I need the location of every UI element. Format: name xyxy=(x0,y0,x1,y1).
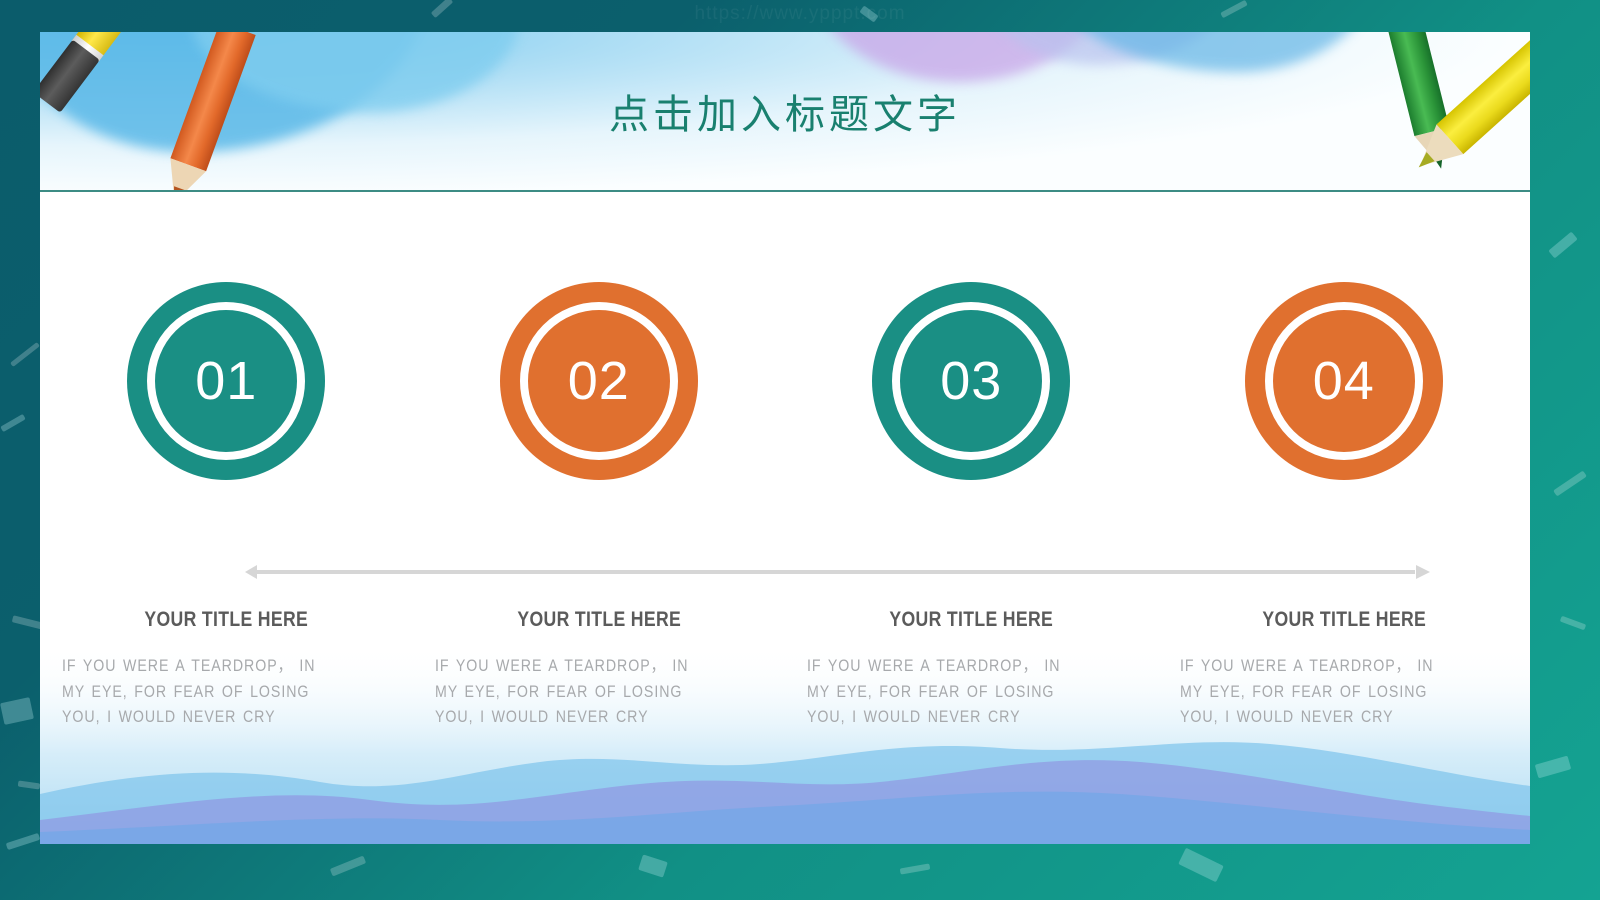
text-row: YOUR TITLE HERE IF YOU WERE A TEARDROP， … xyxy=(40,608,1530,731)
text-cell-02: YOUR TITLE HERE IF YOU WERE A TEARDROP， … xyxy=(413,608,786,731)
item-body: IF YOU WERE A TEARDROP， IN MY EYE, FOR F… xyxy=(1180,654,1463,731)
chalk-mark xyxy=(0,414,26,432)
header-divider xyxy=(40,190,1530,192)
chalk-mark xyxy=(1560,616,1586,631)
chalk-mark xyxy=(1535,756,1572,779)
site-watermark: https://www.ypppt.com xyxy=(0,3,1600,25)
pin-marker-04[interactable]: 04 xyxy=(1245,282,1443,526)
pin-number: 04 xyxy=(1245,282,1443,480)
item-body: IF YOU WERE A TEARDROP， IN MY EYE, FOR F… xyxy=(62,654,345,731)
pin-marker-03[interactable]: 03 xyxy=(872,282,1070,526)
text-cell-03: YOUR TITLE HERE IF YOU WERE A TEARDROP， … xyxy=(785,608,1158,731)
slide-card: 点击加入标题文字 xyxy=(40,32,1530,844)
arrow-right-cap-icon xyxy=(1416,565,1430,579)
text-cell-04: YOUR TITLE HERE IF YOU WERE A TEARDROP， … xyxy=(1158,608,1531,731)
item-title: YOUR TITLE HERE xyxy=(461,608,737,632)
pin-marker-02[interactable]: 02 xyxy=(500,282,698,526)
item-title: YOUR TITLE HERE xyxy=(833,608,1109,632)
timeline-arrow xyxy=(245,565,1430,579)
chalk-mark xyxy=(1178,848,1224,883)
slide-body: 01 02 03 xyxy=(40,190,1530,844)
item-title: YOUR TITLE HERE xyxy=(1206,608,1482,632)
chalk-mark xyxy=(638,854,668,877)
chalk-mark xyxy=(10,342,40,367)
item-body: IF YOU WERE A TEARDROP， IN MY EYE, FOR F… xyxy=(807,654,1090,731)
slide-header: 点击加入标题文字 xyxy=(40,32,1530,190)
timeline-line xyxy=(255,570,1415,574)
pin-number: 01 xyxy=(127,282,325,480)
chalk-mark xyxy=(900,863,931,874)
chalk-mark xyxy=(18,780,41,789)
item-title: YOUR TITLE HERE xyxy=(88,608,364,632)
chalk-mark xyxy=(1548,232,1577,259)
chalk-mark xyxy=(0,697,34,725)
chalk-mark xyxy=(1553,471,1587,497)
pin-row: 01 02 03 xyxy=(40,282,1530,526)
pin-cell: 04 xyxy=(1158,282,1531,526)
chalk-mark xyxy=(6,833,40,850)
pin-cell: 02 xyxy=(413,282,786,526)
slide-canvas: https://www.ypppt.com 点击加入标题文字 xyxy=(0,0,1600,900)
item-body: IF YOU WERE A TEARDROP， IN MY EYE, FOR F… xyxy=(435,654,718,731)
chalk-mark xyxy=(330,856,366,877)
page-title: 点击加入标题文字 xyxy=(40,32,1530,190)
text-cell-01: YOUR TITLE HERE IF YOU WERE A TEARDROP， … xyxy=(40,608,413,731)
pin-cell: 03 xyxy=(785,282,1158,526)
pin-marker-01[interactable]: 01 xyxy=(127,282,325,526)
pin-number: 03 xyxy=(872,282,1070,480)
pin-number: 02 xyxy=(500,282,698,480)
pin-cell: 01 xyxy=(40,282,413,526)
